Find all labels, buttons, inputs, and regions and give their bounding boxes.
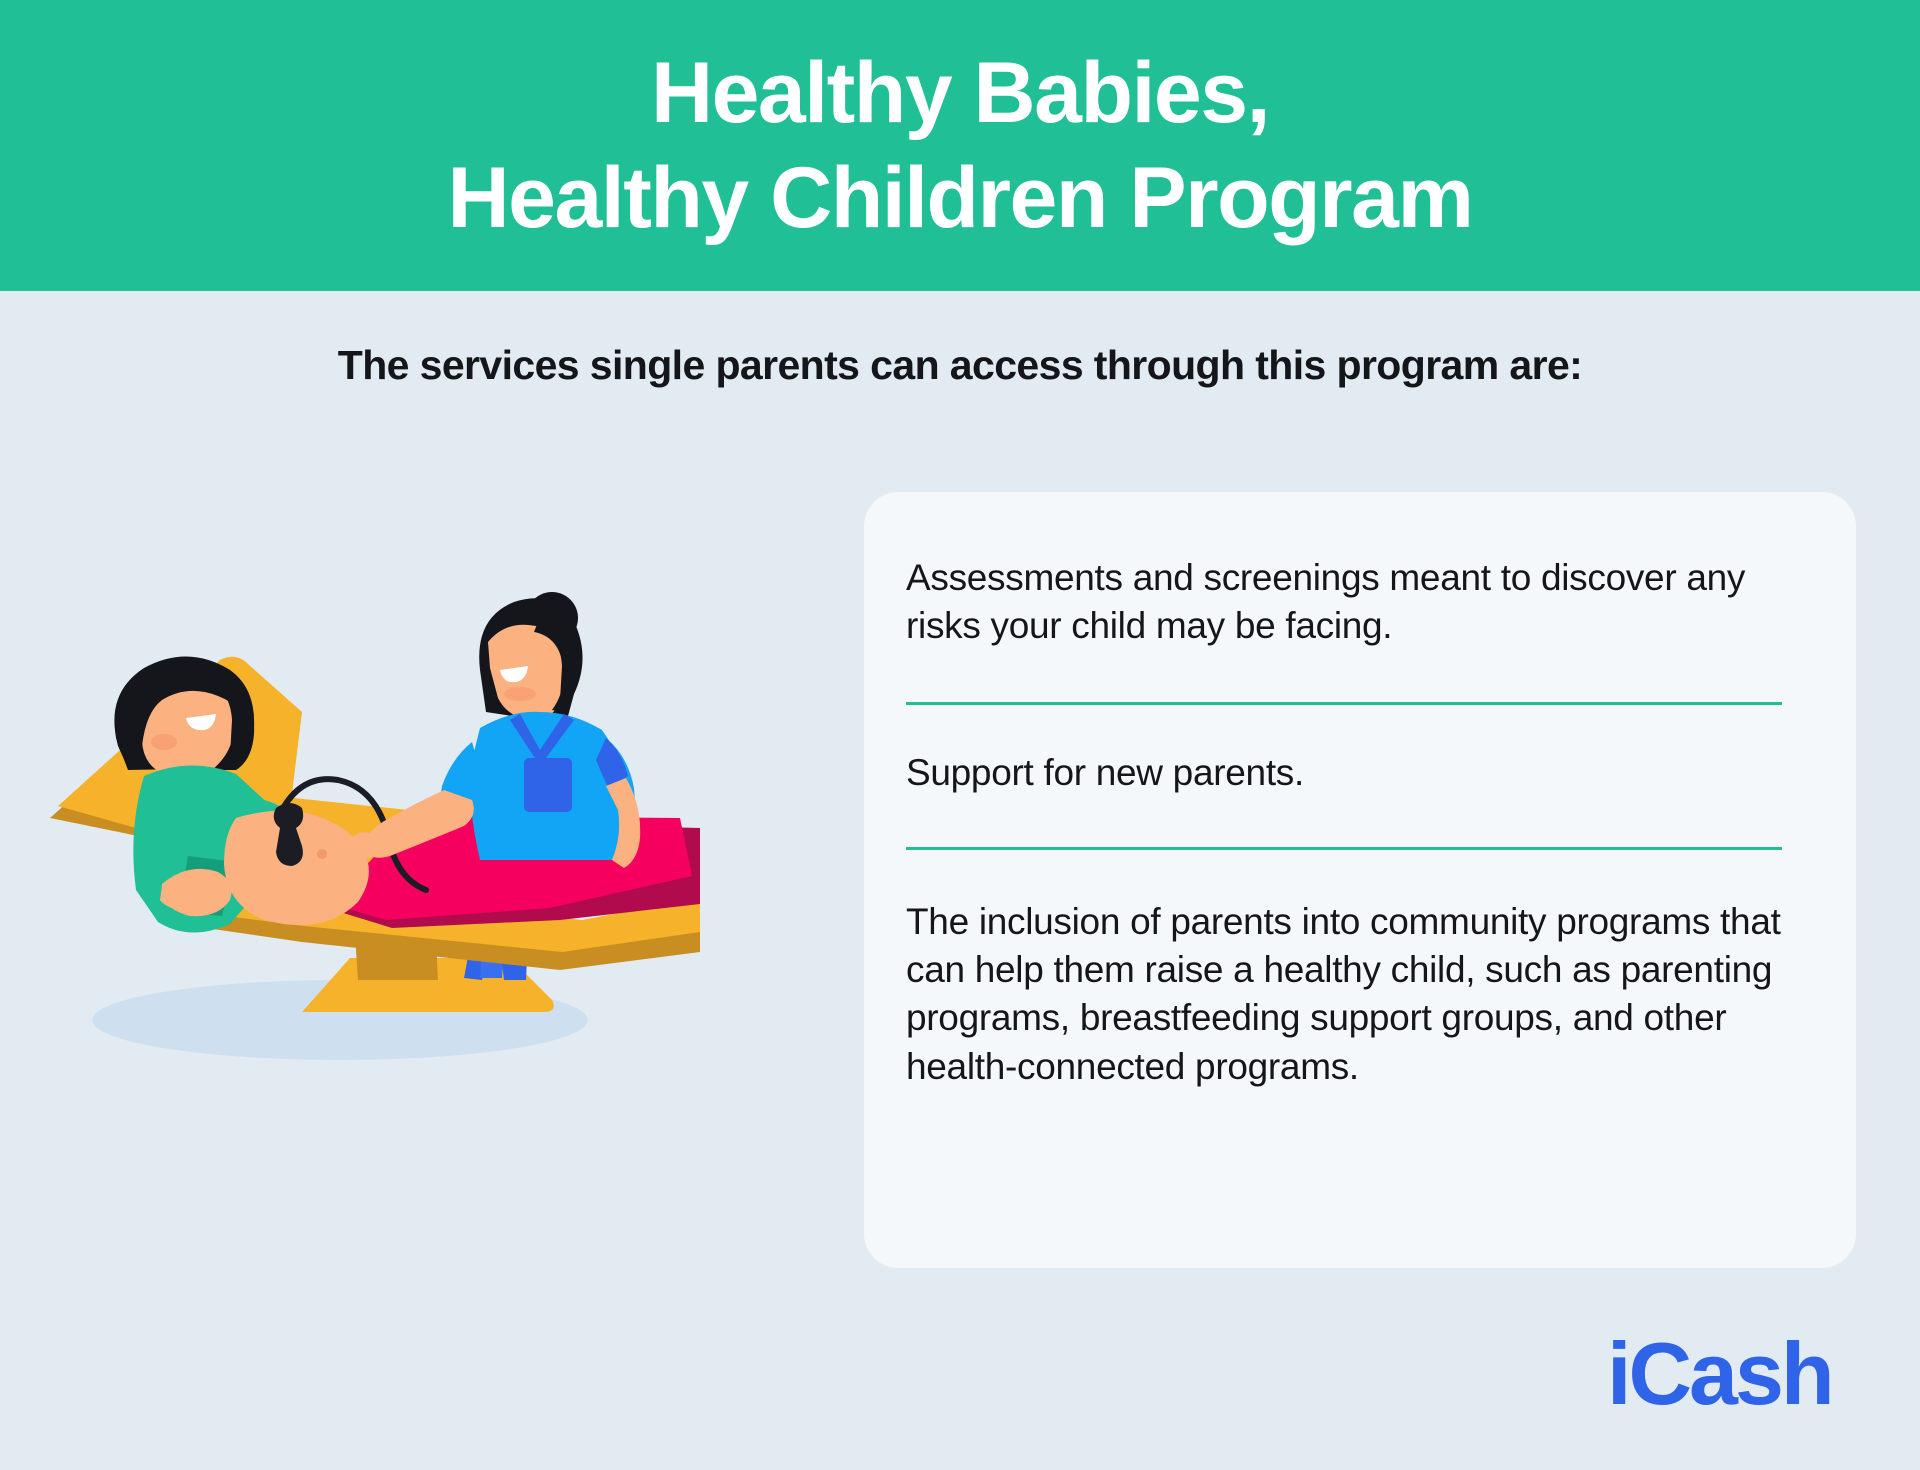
patient-cheek	[151, 734, 177, 750]
illustration-pregnant-woman-ultrasound	[40, 560, 700, 1080]
nurse-cheek	[504, 687, 536, 701]
icash-logo: iCash	[1607, 1330, 1832, 1418]
service-item-support: Support for new parents.	[906, 749, 1782, 797]
nurse-pocket	[524, 758, 572, 812]
header-banner: Healthy Babies, Healthy Children Program	[0, 0, 1920, 291]
spacer	[906, 797, 1782, 847]
service-item-community-inclusion: The inclusion of parents into community …	[906, 898, 1782, 1090]
services-list: Assessments and screenings meant to disc…	[906, 548, 1782, 1212]
spacer	[906, 850, 1782, 898]
page-title: Healthy Babies, Healthy Children Program	[408, 41, 1513, 251]
service-item-assessments: Assessments and screenings meant to disc…	[906, 554, 1782, 650]
subtitle-text: The services single parents can access t…	[0, 342, 1920, 389]
services-card: Assessments and screenings meant to disc…	[864, 492, 1856, 1268]
patient-navel	[317, 849, 327, 859]
spacer	[906, 705, 1782, 749]
spacer	[906, 650, 1782, 702]
